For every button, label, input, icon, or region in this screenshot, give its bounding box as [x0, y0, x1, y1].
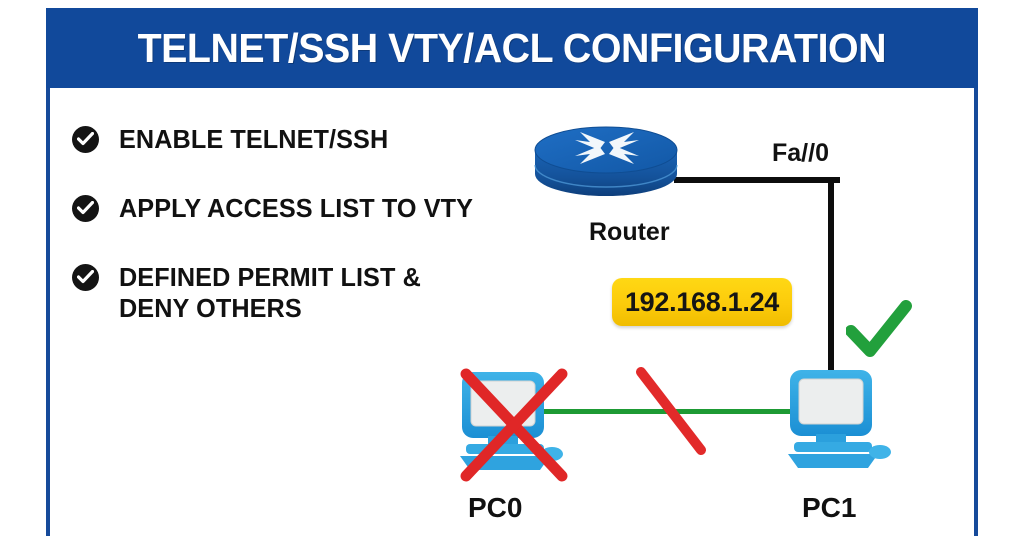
- poster-canvas: TELNET/SSH VTY/ACL CONFIGURATION ENABLE …: [0, 0, 1024, 536]
- check-circle-icon: [72, 126, 99, 153]
- ip-address-badge: 192.168.1.24: [612, 278, 792, 326]
- device-label-pc0: PC0: [468, 492, 522, 524]
- check-circle-icon: [72, 195, 99, 222]
- list-item: ENABLE TELNET/SSH: [72, 124, 542, 155]
- list-item-label: ENABLE TELNET/SSH: [119, 124, 388, 155]
- green-check-icon: [846, 300, 912, 360]
- feature-list: ENABLE TELNET/SSH APPLY ACCESS LIST TO V…: [72, 124, 542, 362]
- list-item-label: APPLY ACCESS LIST TO VTY: [119, 193, 473, 224]
- device-label-pc1: PC1: [802, 492, 856, 524]
- link-router-to-pc1-vertical: [828, 177, 834, 381]
- page-title: TELNET/SSH VTY/ACL CONFIGURATION: [138, 25, 887, 72]
- interface-label-fa0: Fa//0: [772, 139, 829, 168]
- header-bar: TELNET/SSH VTY/ACL CONFIGURATION: [46, 8, 978, 88]
- list-item: APPLY ACCESS LIST TO VTY: [72, 193, 542, 224]
- check-circle-icon: [72, 264, 99, 291]
- red-x-icon: [458, 366, 570, 484]
- red-slash-icon: [625, 360, 725, 460]
- desktop-pc-icon-pc1[interactable]: [778, 364, 898, 479]
- ip-address-value: 192.168.1.24: [625, 287, 779, 318]
- cisco-router-icon[interactable]: [533, 120, 679, 202]
- link-router-to-pc1-horizontal: [674, 177, 840, 183]
- list-item: DEFINED PERMIT LIST & DENY OTHERS: [72, 262, 542, 324]
- router-label: Router: [589, 218, 670, 247]
- list-item-label: DEFINED PERMIT LIST & DENY OTHERS: [119, 262, 421, 324]
